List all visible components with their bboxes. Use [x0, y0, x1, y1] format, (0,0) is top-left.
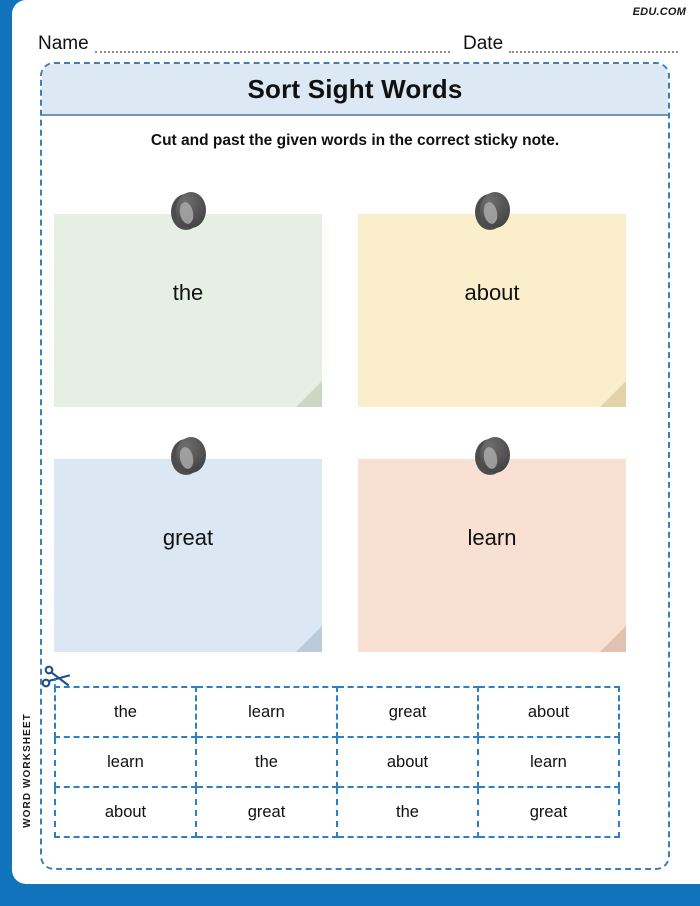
- brand-logo: EDU.COM: [633, 6, 686, 18]
- folded-corner: [296, 381, 322, 407]
- name-label: Name: [38, 34, 95, 53]
- pushpin-highlight: [482, 446, 499, 470]
- sticky-note-slot[interactable]: about: [358, 192, 626, 407]
- pushpin-icon: [473, 437, 511, 483]
- word-cell[interactable]: the: [196, 737, 337, 787]
- word-cell[interactable]: great: [196, 787, 337, 837]
- word-cell[interactable]: learn: [196, 687, 337, 737]
- sticky-note-word: about: [464, 280, 519, 306]
- sticky-note[interactable]: learn: [358, 459, 626, 652]
- content-box: Sort Sight Words Cut and past the given …: [40, 62, 670, 870]
- side-label: WORD WORKSHEET: [16, 680, 38, 860]
- table-row: the learn great about: [55, 687, 619, 737]
- pushpin-head: [480, 437, 510, 473]
- sticky-notes-grid: the about: [54, 192, 660, 662]
- pushpin-icon: [169, 192, 207, 238]
- sticky-note-slot[interactable]: the: [54, 192, 322, 407]
- word-cell[interactable]: the: [55, 687, 196, 737]
- pushpin-head: [480, 192, 510, 228]
- worksheet-page: EDU.COM Name Date Sort Sight Words Cut a…: [0, 0, 700, 906]
- page-title: Sort Sight Words: [247, 74, 462, 105]
- word-cell[interactable]: great: [478, 787, 619, 837]
- pushpin-head: [176, 437, 206, 473]
- folded-corner: [600, 381, 626, 407]
- brand-logo-bold: EDU: [633, 6, 657, 18]
- table-row: learn the about learn: [55, 737, 619, 787]
- pushpin-icon: [473, 192, 511, 238]
- name-field[interactable]: Name: [38, 34, 450, 53]
- cut-out-words-table: the learn great about learn the about le…: [54, 686, 620, 838]
- instruction-text: Cut and past the given words in the corr…: [42, 132, 668, 150]
- pushpin-highlight: [178, 201, 195, 225]
- folded-corner: [600, 626, 626, 652]
- sticky-note-word: learn: [468, 525, 517, 551]
- paper-sheet: EDU.COM Name Date Sort Sight Words Cut a…: [12, 0, 700, 884]
- word-cell[interactable]: great: [337, 687, 478, 737]
- word-cell[interactable]: the: [337, 787, 478, 837]
- sticky-note[interactable]: the: [54, 214, 322, 407]
- pushpin-icon: [169, 437, 207, 483]
- sticky-note[interactable]: about: [358, 214, 626, 407]
- table-row: about great the great: [55, 787, 619, 837]
- date-label: Date: [463, 34, 509, 53]
- pushpin-highlight: [482, 201, 499, 225]
- sticky-note-slot[interactable]: learn: [358, 437, 626, 652]
- date-input-line[interactable]: [509, 37, 678, 53]
- name-input-line[interactable]: [95, 37, 450, 53]
- side-label-text: WORD WORKSHEET: [22, 713, 33, 828]
- word-cell[interactable]: learn: [55, 737, 196, 787]
- word-cell[interactable]: about: [55, 787, 196, 837]
- word-cell[interactable]: learn: [478, 737, 619, 787]
- brand-logo-rest: .COM: [656, 6, 686, 18]
- word-cell[interactable]: about: [478, 687, 619, 737]
- sticky-note-word: great: [163, 525, 213, 551]
- pushpin-head: [176, 192, 206, 228]
- folded-corner: [296, 626, 322, 652]
- student-field-row: Name Date: [38, 27, 678, 53]
- word-cell[interactable]: about: [337, 737, 478, 787]
- sticky-note[interactable]: great: [54, 459, 322, 652]
- title-banner: Sort Sight Words: [42, 64, 668, 116]
- pushpin-highlight: [178, 446, 195, 470]
- date-field[interactable]: Date: [463, 34, 678, 53]
- sticky-note-word: the: [173, 280, 204, 306]
- sticky-note-slot[interactable]: great: [54, 437, 322, 652]
